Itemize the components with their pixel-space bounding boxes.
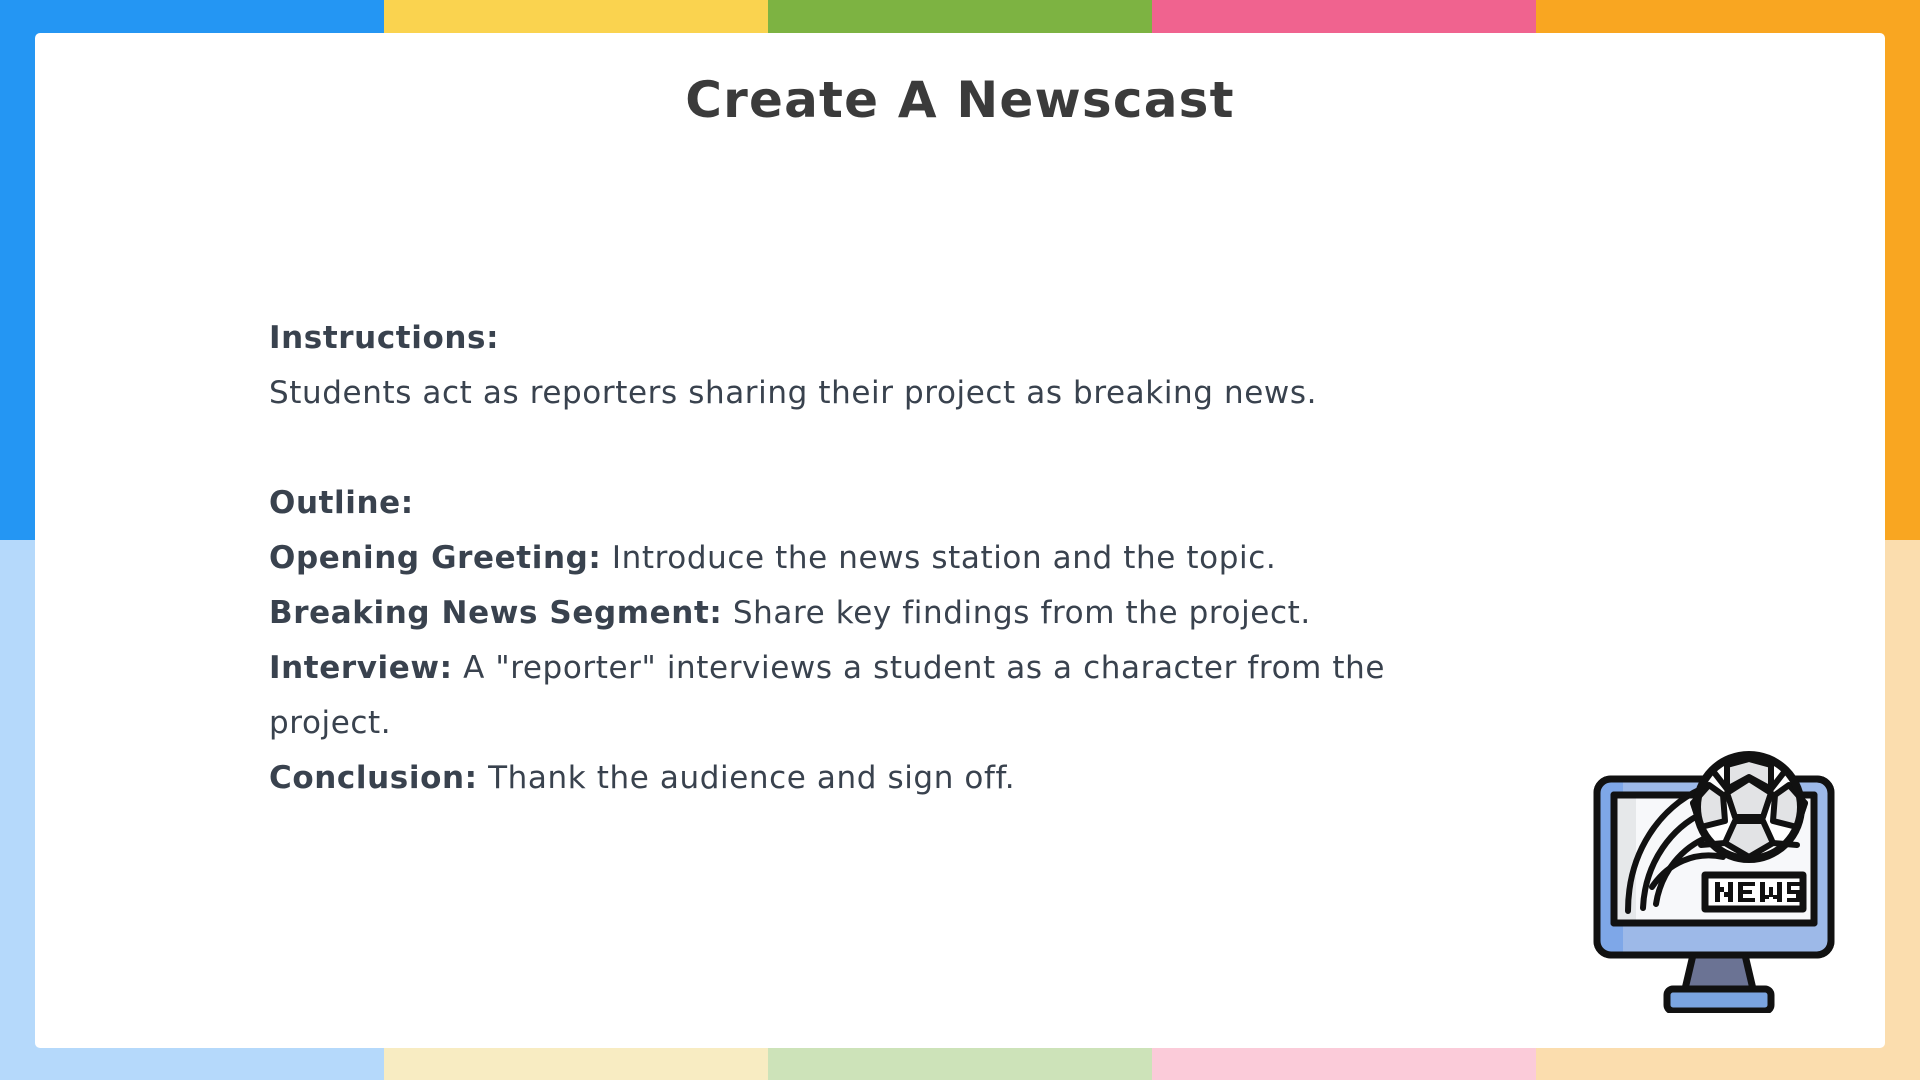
outline-heading-text: Outline: (269, 485, 414, 521)
outline-item-label: Interview: (269, 650, 453, 686)
content-card: Create A Newscast Instructions: Students… (35, 33, 1885, 1048)
slide-root: Create A Newscast Instructions: Students… (0, 0, 1920, 1080)
outline-item-description: Thank the audience and sign off. (478, 760, 1016, 796)
instructions-text: Students act as reporters sharing their … (269, 366, 1509, 421)
outline-heading: Outline: (269, 476, 1509, 531)
outline-item-breaking-news-segment: Breaking News Segment: Share key finding… (269, 586, 1509, 641)
outline-item-conclusion: Conclusion: Thank the audience and sign … (269, 751, 1509, 806)
soccer-ball (1693, 755, 1805, 859)
monitor-stand (1685, 955, 1753, 989)
monitor-base (1667, 989, 1771, 1011)
outline-item-label: Opening Greeting: (269, 540, 601, 576)
instructions-heading: Instructions: (269, 311, 1509, 366)
news-monitor-soccer-ball-icon (1583, 751, 1855, 1013)
outline-item-description: Introduce the news station and the topic… (601, 540, 1276, 576)
outline-item-description: Share key findings from the project. (722, 595, 1310, 631)
outline-item-label: Breaking News Segment: (269, 595, 722, 631)
body-spacer (269, 421, 1509, 476)
outline-item-interview: Interview: A "reporter" interviews a stu… (269, 641, 1509, 751)
instructions-heading-text: Instructions: (269, 320, 499, 356)
outline-item-label: Conclusion: (269, 760, 478, 796)
instructions-body-text: Students act as reporters sharing their … (269, 375, 1317, 411)
slide-body: Instructions: Students act as reporters … (269, 311, 1509, 806)
slide-title: Create A Newscast (35, 71, 1885, 129)
outline-item-opening-greeting: Opening Greeting: Introduce the news sta… (269, 531, 1509, 586)
